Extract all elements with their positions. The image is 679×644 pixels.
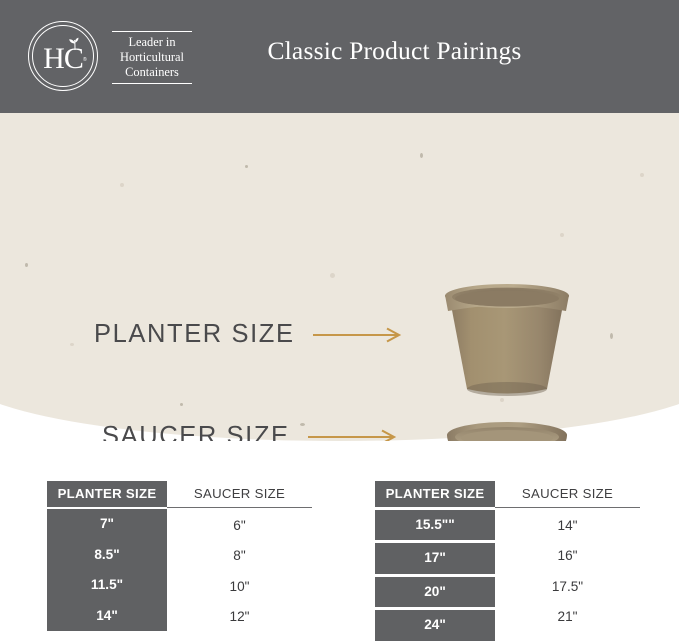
column-header-saucer-size: SAUCER SIZE [495,481,640,508]
table-cell-planter: 14" [47,601,167,632]
table-cell-saucer: 12" [167,602,312,633]
column-header-planter-size: PLANTER SIZE [47,481,167,507]
column-header-saucer-size: SAUCER SIZE [167,481,312,508]
table-cell-planter: 11.5" [47,570,167,601]
size-table-small: PLANTER SIZE 7" 8.5" 11.5" 14" SAUCER SI… [47,481,312,633]
hero-panel: PLANTER SIZE SAUCER SIZE [0,113,679,441]
table-cell-planter: 8.5" [47,540,167,571]
planter-size-column-left: PLANTER SIZE 7" 8.5" 11.5" 14" [47,481,167,631]
page-title: Classic Product Pairings [0,36,679,66]
size-table-large: PLANTER SIZE 15.5"" 17" 20" 24" SAUCER S… [375,481,640,644]
saucer-product-image [437,419,577,441]
table-cell-saucer: 14" [495,511,640,542]
arrow-right-icon-planter [313,327,403,343]
table-cell-saucer: 8" [167,541,312,572]
table-cell-planter: 15.5"" [375,510,495,541]
table-cell-planter: 17" [375,543,495,574]
planter-size-column-right: PLANTER SIZE 15.5"" 17" 20" 24" [375,481,495,644]
saucer-size-column-left: SAUCER SIZE 6" 8" 10" 12" [167,481,312,633]
table-cell-planter: 7" [47,509,167,540]
saucer-size-column-right: SAUCER SIZE 14" 16" 17.5" 21" [495,481,640,633]
planter-product-image [437,281,577,399]
table-cell-planter: 24" [375,610,495,641]
table-cell-saucer: 17.5" [495,572,640,603]
saucer-size-label: SAUCER SIZE [102,422,290,441]
table-cell-planter: 20" [375,577,495,608]
planter-size-label: PLANTER SIZE [94,320,295,349]
table-cell-saucer: 10" [167,572,312,603]
table-cell-saucer: 21" [495,602,640,633]
page-header: HC ® Leader in Horticultural Containers … [0,0,679,113]
planter-size-callout: PLANTER SIZE [94,320,403,349]
arrow-right-icon-saucer [308,429,398,442]
hero-background [0,113,679,441]
size-chart-tables: PLANTER SIZE 7" 8.5" 11.5" 14" SAUCER SI… [0,441,679,636]
column-header-planter-size: PLANTER SIZE [375,481,495,507]
saucer-size-callout: SAUCER SIZE [102,422,398,441]
logo-tagline-line-3: Containers [112,65,192,80]
table-cell-saucer: 6" [167,511,312,542]
table-cell-saucer: 16" [495,541,640,572]
